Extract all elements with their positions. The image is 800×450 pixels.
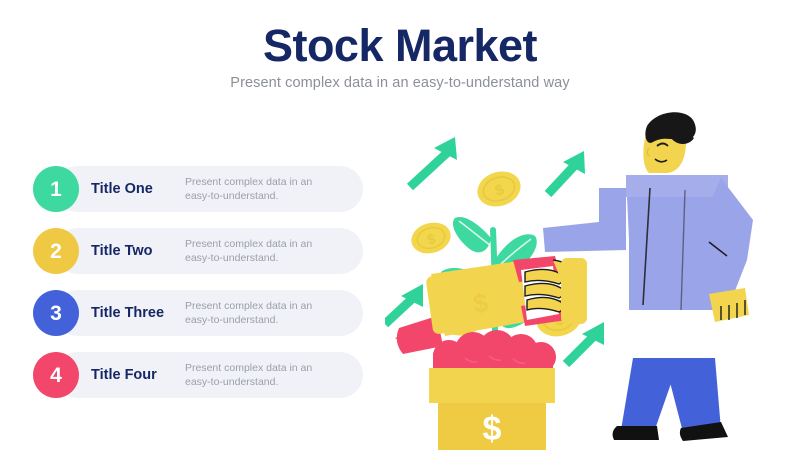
list-item[interactable]: 2 Title Two Present complex data in an e… xyxy=(33,228,363,274)
growth-arrow-icon xyxy=(548,151,585,194)
hand-right xyxy=(709,288,749,322)
list-item-description-line2: easy-to-understand. xyxy=(185,251,355,265)
list-item[interactable]: 4 Title Four Present complex data in an … xyxy=(33,352,363,398)
list-item-title: Title Two xyxy=(91,228,186,274)
list-item[interactable]: 3 Title Three Present complex data in an… xyxy=(33,290,363,336)
list-item-title: Title One xyxy=(91,166,186,212)
gold-coin-icon: $ xyxy=(473,166,525,212)
slide-header: Stock Market Present complex data in an … xyxy=(0,22,800,91)
list-item-number-badge: 3 xyxy=(33,290,79,336)
list-item-description: Present complex data in an easy-to-under… xyxy=(185,290,355,336)
pot-dollar-symbol: $ xyxy=(483,410,502,448)
slide-root: Stock Market Present complex data in an … xyxy=(0,0,800,450)
flower-pot-icon: $ xyxy=(429,368,555,450)
list-item-description: Present complex data in an easy-to-under… xyxy=(185,228,355,274)
list-item[interactable]: 1 Title One Present complex data in an e… xyxy=(33,166,363,212)
growth-arrow-icon xyxy=(410,137,457,187)
list-item-description-line2: easy-to-understand. xyxy=(185,313,355,327)
list-item-description: Present complex data in an easy-to-under… xyxy=(185,166,355,212)
list-item-title: Title Three xyxy=(91,290,186,336)
illustration-person-watering-money-plant: $ $ $ $ xyxy=(385,110,800,450)
shoe-icon xyxy=(613,426,659,440)
list-item-number-badge: 4 xyxy=(33,352,79,398)
list-item-title: Title Four xyxy=(91,352,186,398)
berry-cluster-icon xyxy=(433,330,556,373)
list-item-number-badge: 2 xyxy=(33,228,79,274)
list-item-description-line2: easy-to-understand. xyxy=(185,375,355,389)
growth-arrow-icon xyxy=(385,284,423,324)
list-item-description-line1: Present complex data in an xyxy=(185,361,355,375)
list-item-description-line1: Present complex data in an xyxy=(185,299,355,313)
feature-list: 1 Title One Present complex data in an e… xyxy=(33,166,363,414)
list-item-description: Present complex data in an easy-to-under… xyxy=(185,352,355,398)
list-item-description-line2: easy-to-understand. xyxy=(185,189,355,203)
page-title: Stock Market xyxy=(0,22,800,69)
list-item-description-line1: Present complex data in an xyxy=(185,175,355,189)
arm-left xyxy=(543,188,626,252)
list-item-number-badge: 1 xyxy=(33,166,79,212)
page-subtitle: Present complex data in an easy-to-under… xyxy=(0,75,800,91)
list-item-description-line1: Present complex data in an xyxy=(185,237,355,251)
gold-coin-icon: $ xyxy=(408,218,455,258)
